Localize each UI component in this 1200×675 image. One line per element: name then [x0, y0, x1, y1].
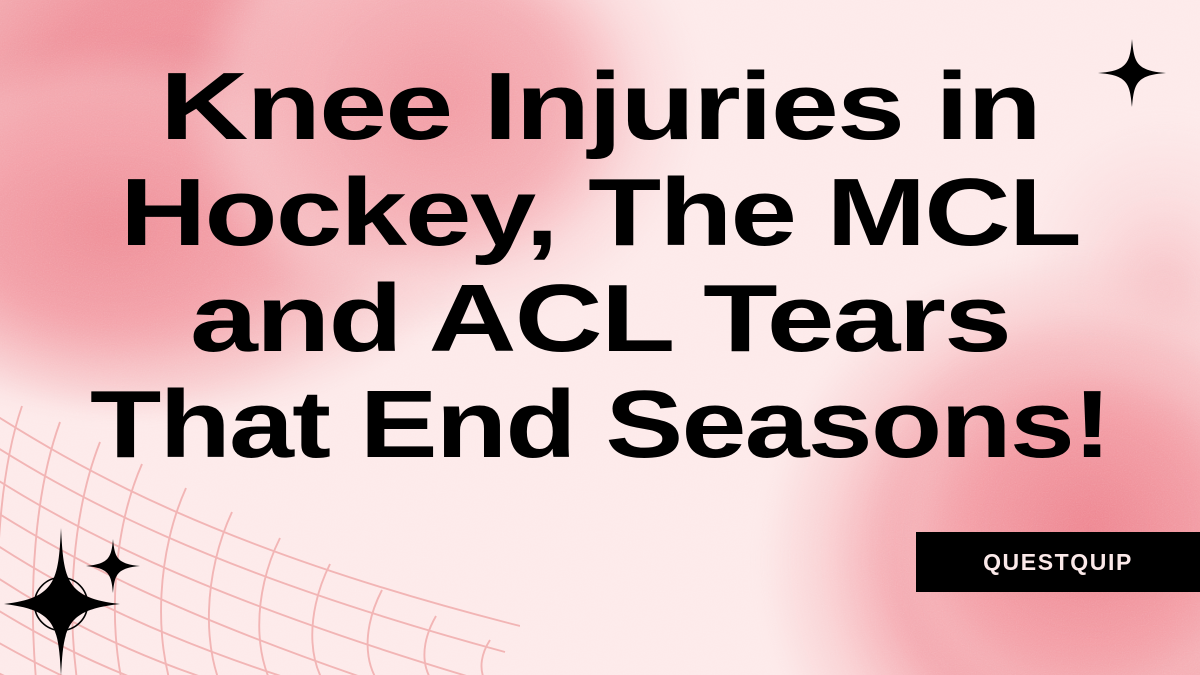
sparkle-star-with-ring-icon — [4, 528, 120, 675]
poster-canvas: Knee Injuries in Hockey, The MCL and ACL… — [0, 0, 1200, 675]
page-title: Knee Injuries in Hockey, The MCL and ACL… — [0, 54, 1200, 478]
sparkle-star-icon-small — [86, 538, 140, 594]
brand-badge-label: QUESTQUIP — [983, 549, 1149, 576]
title-line-4: That End Seasons! — [0, 372, 1200, 478]
title-line-1: Knee Injuries in — [0, 54, 1200, 160]
brand-badge: QUESTQUIP — [916, 532, 1200, 592]
title-line-2: Hockey, The MCL — [0, 160, 1200, 266]
title-line-3: and ACL Tears — [0, 266, 1200, 372]
